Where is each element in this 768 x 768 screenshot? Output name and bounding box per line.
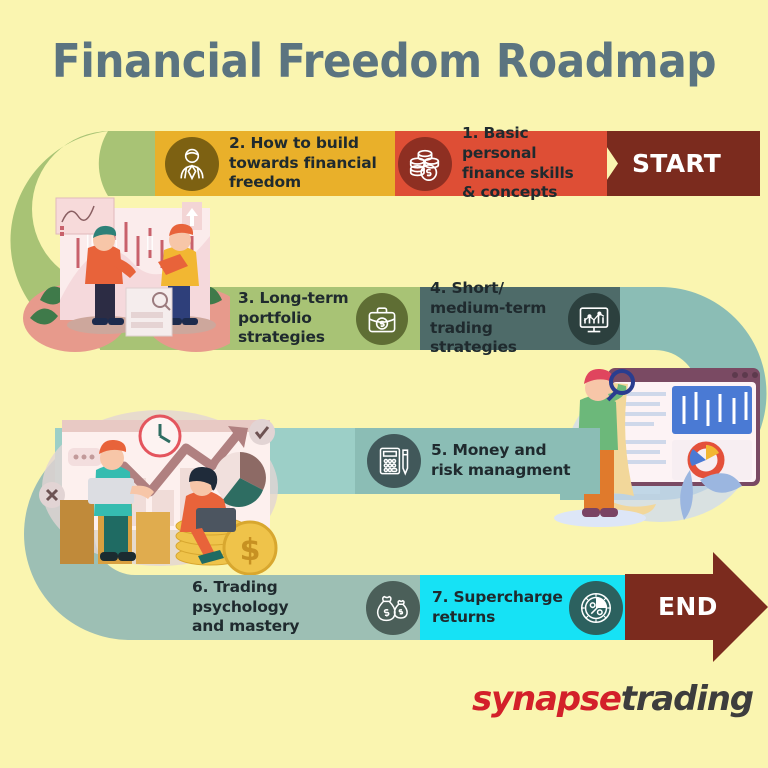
step-7-bar[interactable]: 7. Supercharge returns: [420, 575, 640, 640]
step-4-label: 4. Short/ medium-term trading strategies: [430, 279, 564, 358]
step-1-label: 1. Basic personal finance skills & conce…: [462, 124, 607, 203]
person-in-suit-icon: [165, 137, 219, 191]
step-5-label: 5. Money and risk managment: [431, 441, 570, 480]
step-6-bar[interactable]: 6. Trading psychology and mastery: [180, 575, 420, 640]
logo-word-secondary: trading: [621, 679, 753, 719]
step-1-bar[interactable]: 1. Basic personal finance skills & conce…: [392, 131, 607, 196]
track-row1-left-cap: [99, 131, 155, 196]
money-bags-icon: [366, 581, 420, 635]
brand-logo[interactable]: synapsetrading: [470, 668, 740, 730]
step-4-bar[interactable]: 4. Short/ medium-term trading strategies: [420, 287, 620, 350]
step-6-label: 6. Trading psychology and mastery: [192, 578, 360, 637]
bar-chart-monitor-icon: [568, 293, 620, 345]
briefcase-dollar-icon: [356, 293, 408, 345]
calculator-pencil-icon: [367, 434, 421, 488]
stacked-coins-icon: [398, 137, 452, 191]
step-5-bar[interactable]: 5. Money and risk managment: [355, 428, 600, 494]
end-label: END: [658, 592, 718, 621]
step-2-bar[interactable]: 2. How to build towards financial freedo…: [155, 131, 395, 196]
logo-word-primary: synapse: [472, 679, 621, 719]
percent-gauge-icon: [569, 581, 623, 635]
infographic-canvas: Financial Freedom Roadmap: [0, 0, 768, 768]
start-label: START: [632, 149, 721, 178]
step-7-label: 7. Supercharge returns: [432, 588, 563, 627]
track-row3-left-ext: [55, 428, 235, 494]
step-3-bar[interactable]: 3. Long-term portfolio strategies: [230, 287, 420, 350]
step-2-label: 2. How to build towards financial freedo…: [229, 134, 377, 193]
step-3-label: 3. Long-term portfolio strategies: [238, 289, 348, 348]
